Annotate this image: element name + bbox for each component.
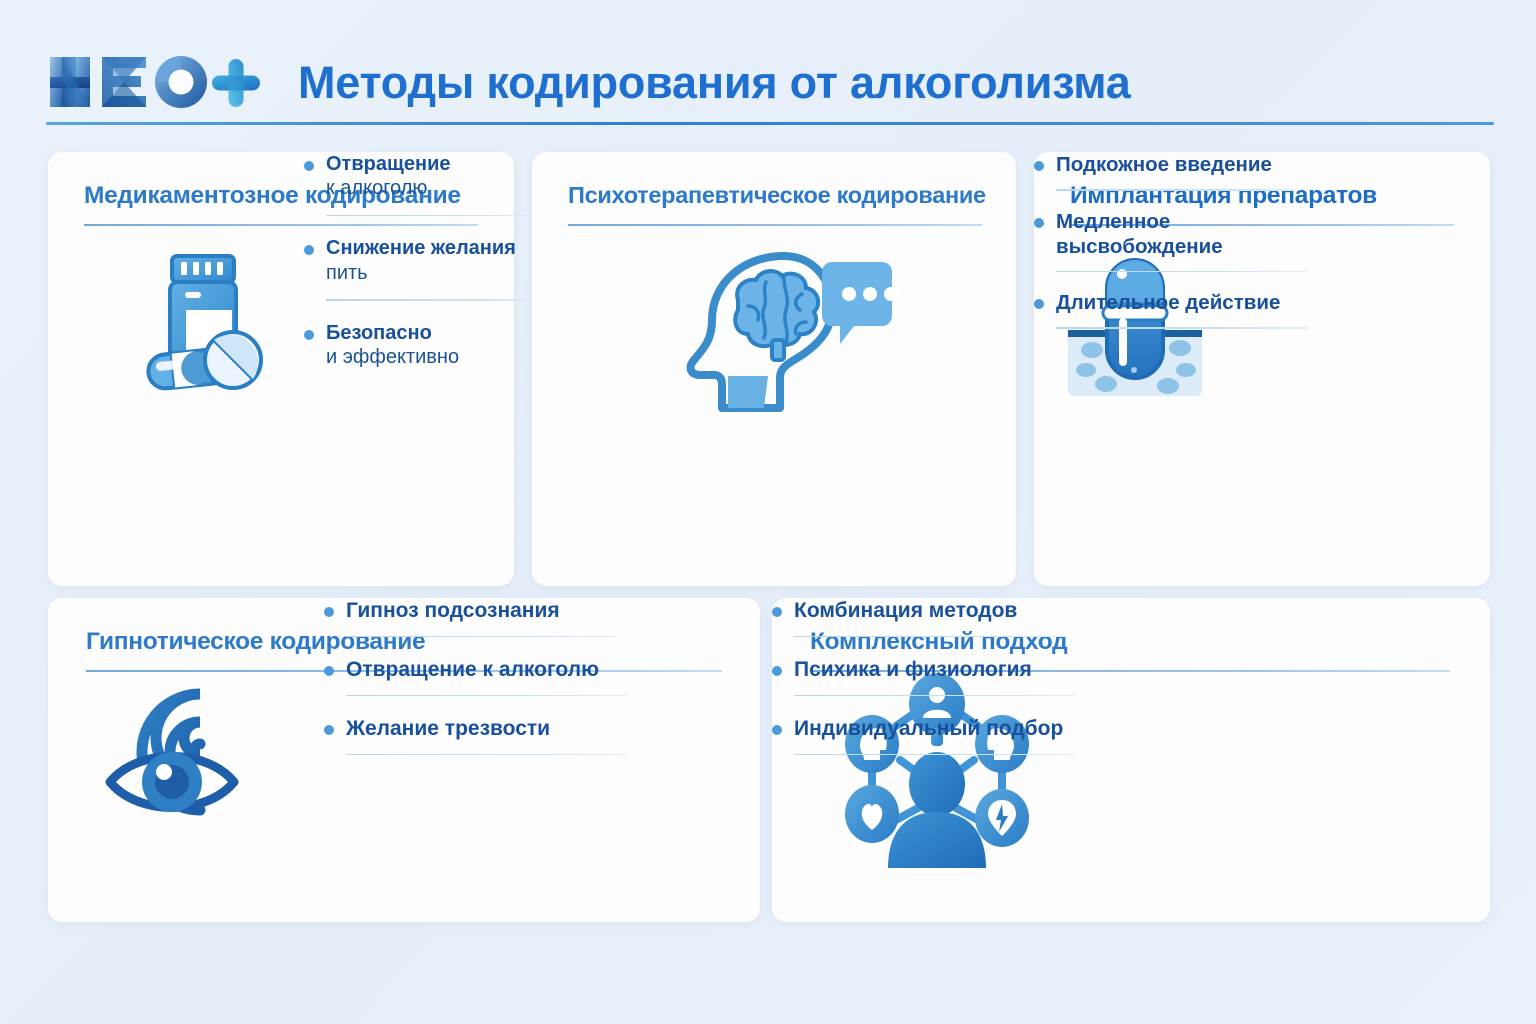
bullet-secondary-text: к алкоголю xyxy=(326,176,540,200)
bullet-dot-icon xyxy=(324,725,334,735)
bullet-secondary-text: высвобождение xyxy=(1056,234,1304,259)
list-item: Снижение желания пить xyxy=(304,236,540,285)
bullet-dot-icon xyxy=(1034,299,1044,309)
card-medikamentoznoe[interactable]: Медикаментозное кодирование xyxy=(48,152,514,586)
bullet-primary-text: Психика и физиология xyxy=(794,657,1076,683)
card-title-divider xyxy=(568,224,982,226)
bullet-dot-icon xyxy=(772,607,782,617)
list-item: Отвращение к алкоголю xyxy=(304,152,540,201)
list-item: Комбинация методов xyxy=(772,598,1076,624)
bullet-dot-icon xyxy=(772,725,782,735)
card-psihoterapevticheskoe[interactable]: Психотерапевтическое кодирование Пс xyxy=(532,152,1016,586)
bullet-dot-icon xyxy=(772,666,782,676)
bullet-dot-icon xyxy=(304,245,314,255)
bullet-primary-text: Безопасно xyxy=(326,321,540,345)
hypnosis-eye-spiral-icon xyxy=(104,670,276,834)
bullet-primary-text: Индивидуальный подбор xyxy=(794,716,1076,742)
list-item: Длительное действие xyxy=(1034,290,1304,315)
bullet-divider xyxy=(1056,327,1308,329)
bullet-divider xyxy=(794,754,1076,756)
page-header: Методы кодирования от алкоголизма xyxy=(46,32,1496,132)
pill-bottle-icon xyxy=(126,248,274,396)
bullet-list: Гипноз подсознания Отвращение к алкоголю… xyxy=(324,598,622,755)
bullet-primary-text: Медленное xyxy=(1056,209,1304,234)
bullet-primary-text: Длительное действие xyxy=(1056,290,1304,315)
bullet-list: Комбинация методов Психика и физиология … xyxy=(772,598,1076,755)
list-item: Гипноз подсознания xyxy=(324,598,622,624)
card-gipnoticheskoe[interactable]: Гипнотическое кодирование Гипноз подсозн… xyxy=(48,598,760,922)
card-kompleksnyy[interactable]: Комплексный подход xyxy=(772,598,1490,922)
head-brain-speech-icon xyxy=(672,248,902,416)
bullet-primary-text: Гипноз подсознания xyxy=(346,598,622,624)
list-item: Индивидуальный подбор xyxy=(772,716,1076,742)
card-implantaciya[interactable]: Имплантация препаратов Подкожное xyxy=(1034,152,1490,586)
list-item: Медленное высвобождение xyxy=(1034,209,1304,259)
bullet-primary-text: Комбинация методов xyxy=(794,598,1076,624)
bullet-dot-icon xyxy=(304,161,314,171)
bullet-primary-text: Отвращение xyxy=(326,152,540,176)
list-item: Психика и физиология xyxy=(772,657,1076,683)
card-title: Психотерапевтическое кодирование xyxy=(568,182,986,209)
bullet-dot-icon xyxy=(1034,218,1044,228)
list-item: Подкожное введение xyxy=(1034,152,1304,177)
bullet-dot-icon xyxy=(324,607,334,617)
bullet-dot-icon xyxy=(304,330,314,340)
bullet-primary-text: Снижение желания xyxy=(326,236,540,260)
bullet-divider xyxy=(346,754,628,756)
page-title: Методы кодирования от алкоголизма xyxy=(298,60,1131,105)
bullet-list: Отвращение к алкоголю Снижение желания п… xyxy=(304,152,540,369)
list-item: Безопасно и эффективно xyxy=(304,321,540,370)
bullet-list: Подкожное введение Медленное высвобожден… xyxy=(1034,152,1304,329)
list-item: Желание трезвости xyxy=(324,716,622,742)
bullet-primary-text: Подкожное введение xyxy=(1056,152,1304,177)
bullet-primary-text: Отвращение к алкоголю xyxy=(346,657,622,683)
neo-plus-logo xyxy=(46,51,264,113)
bullet-secondary-text: и эффективно xyxy=(326,345,540,369)
list-item: Отвращение к алкоголю xyxy=(324,657,622,683)
bullet-primary-text: Желание трезвости xyxy=(346,716,622,742)
bullet-dot-icon xyxy=(324,666,334,676)
bullet-dot-icon xyxy=(1034,161,1044,171)
bullet-secondary-text: пить xyxy=(326,261,540,285)
header-divider xyxy=(46,122,1494,125)
